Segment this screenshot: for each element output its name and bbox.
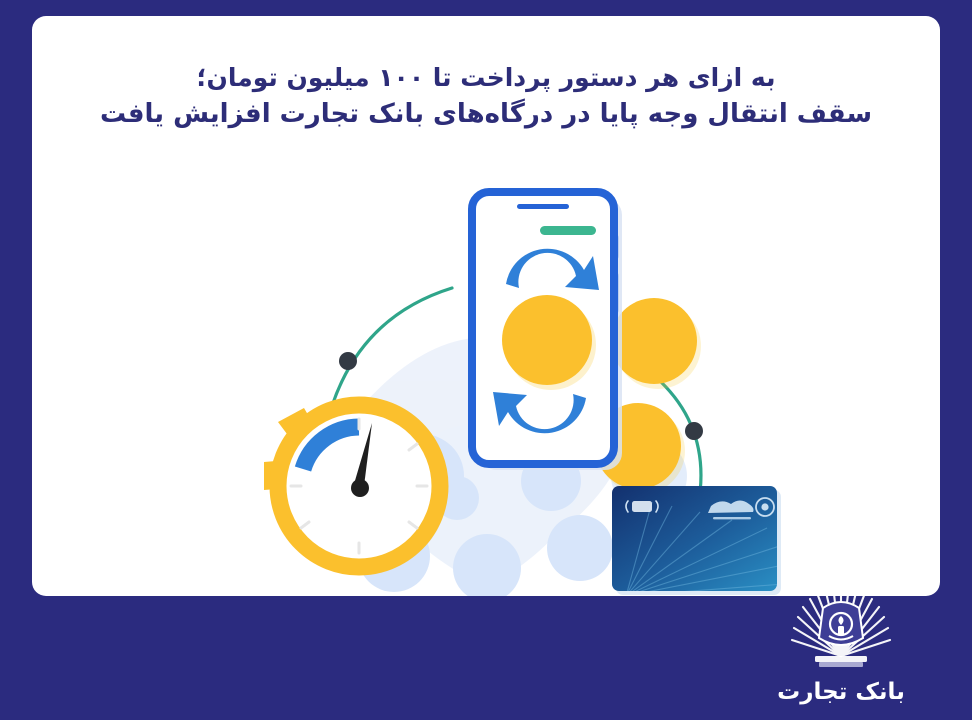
connector-node (685, 422, 703, 440)
yellow-circle (611, 298, 697, 384)
illustration-svg (32, 176, 940, 596)
brand-block: بانک تجارت (766, 574, 916, 710)
announcement-banner: به ازای هر دستور پرداخت تا ۱۰۰ میلیون تو… (0, 0, 972, 720)
emblem-medallion (819, 602, 863, 645)
stopwatch-icon (264, 405, 447, 574)
stopwatch-hub (351, 479, 369, 497)
headline-line-1: به ازای هر دستور پرداخت تا ۱۰۰ میلیون تو… (32, 60, 940, 96)
decorative-circle (547, 515, 613, 581)
brand-name-label: بانک تجارت (766, 680, 916, 705)
phone-speaker (517, 204, 569, 209)
phone-status-bar (540, 226, 596, 235)
headline-block: به ازای هر دستور پرداخت تا ۱۰۰ میلیون تو… (32, 60, 940, 132)
coin-icon (502, 295, 592, 385)
payment-transfer-illustration (32, 176, 940, 596)
tejarat-bank-emblem-icon (785, 574, 897, 678)
emblem-base (815, 656, 867, 667)
white-content-card: به ازای هر دستور پرداخت تا ۱۰۰ میلیون تو… (32, 16, 940, 596)
smartphone-icon (472, 192, 622, 470)
headline-line-2: سقف انتقال وجه پایا در درگاه‌های بانک تج… (32, 96, 940, 133)
connector-node (339, 352, 357, 370)
